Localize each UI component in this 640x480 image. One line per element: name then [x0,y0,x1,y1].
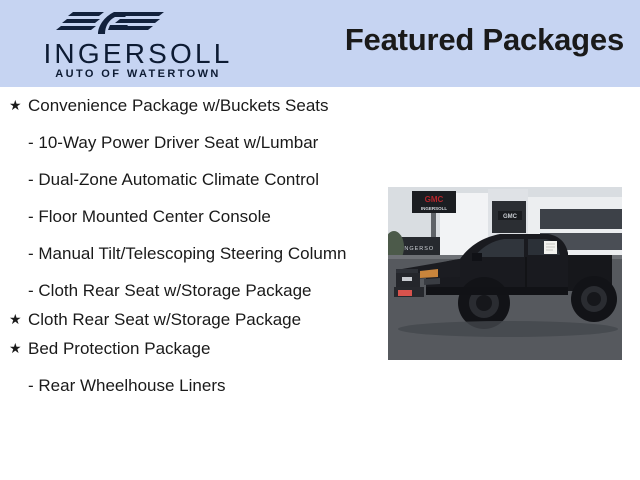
svg-text:GMC: GMC [503,214,518,220]
brand-tagline: AUTO OF WATERTOWN [0,68,276,80]
package-item-label: Convenience Package w/Buckets Seats [10,95,358,116]
package-item-label: - Rear Wheelhouse Liners [28,375,368,396]
package-item-label: - Manual Tilt/Telescoping Steering Colum… [28,243,368,264]
brand-name: INGERSOLL [0,40,276,68]
black-pickup-truck-at-dealership-photo: GMC GMC INGERSOLL INGERSO [388,187,622,360]
package-item: ★Convenience Package w/Buckets Seats [0,95,380,116]
package-item-label: - Floor Mounted Center Console [28,206,368,227]
package-item-label: Bed Protection Package [10,338,358,359]
package-list: ★Convenience Package w/Buckets Seats- 10… [0,87,380,396]
ingersoll-wing-emblem-icon [52,7,172,41]
package-item-label: Cloth Rear Seat w/Storage Package [10,309,358,330]
package-item-label: - 10-Way Power Driver Seat w/Lumbar [28,132,368,153]
package-item-label: - Cloth Rear Seat w/Storage Package [28,280,368,301]
brand-logo: INGERSOLL AUTO OF WATERTOWN [0,2,276,85]
package-sub-item: - Rear Wheelhouse Liners [0,375,380,396]
package-sub-item: - 10-Way Power Driver Seat w/Lumbar [0,132,380,153]
page-title: Featured Packages [345,22,624,58]
package-item-label: - Dual-Zone Automatic Climate Control [28,169,368,190]
package-sub-item: - Dual-Zone Automatic Climate Control [0,169,380,190]
package-item: ★Cloth Rear Seat w/Storage Package [0,309,380,330]
star-bullet-icon: ★ [9,309,22,330]
star-bullet-icon: ★ [9,95,22,116]
package-sub-item: - Cloth Rear Seat w/Storage Package [0,280,380,301]
svg-text:GMC: GMC [425,195,444,204]
package-sub-item: - Floor Mounted Center Console [0,206,380,227]
star-bullet-icon: ★ [9,338,22,359]
header-band: INGERSOLL AUTO OF WATERTOWN Featured Pac… [0,0,640,87]
svg-text:INGERSOLL: INGERSOLL [421,206,448,211]
package-sub-item: - Manual Tilt/Telescoping Steering Colum… [0,243,380,264]
svg-text:INGERSO: INGERSO [402,246,434,252]
package-item: ★Bed Protection Package [0,338,380,359]
